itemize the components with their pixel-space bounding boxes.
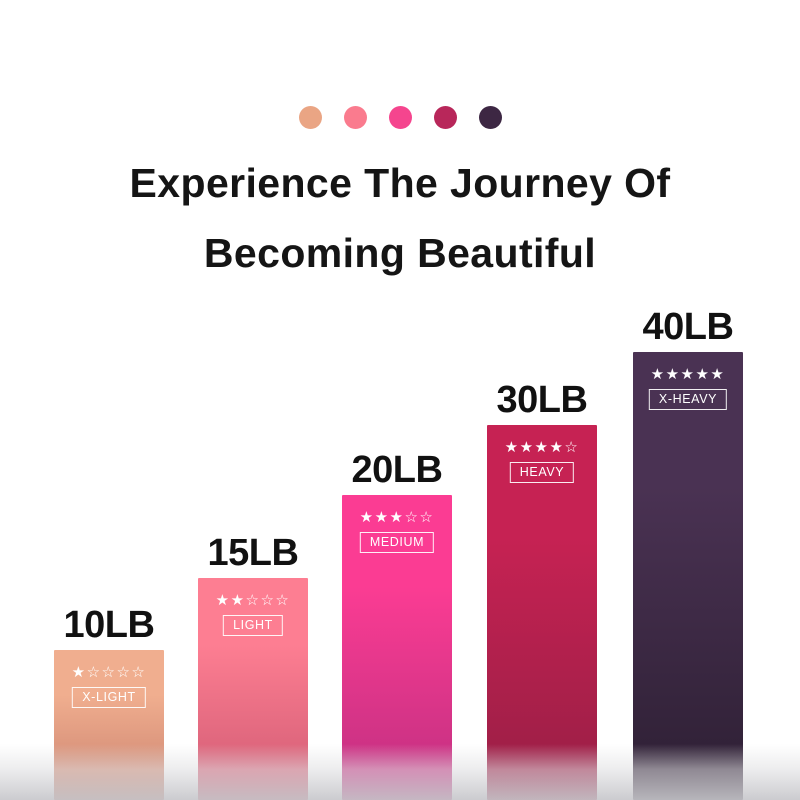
tier-label-x-heavy: X-HEAVY	[649, 389, 727, 410]
page-title-line-1: Experience The Journey Of	[0, 148, 800, 218]
bar-medium[interactable]: ★★★☆☆MEDIUM	[342, 495, 452, 800]
bar-group-heavy[interactable]: 30LB★★★★☆HEAVY	[487, 425, 597, 800]
dot-heavy	[434, 106, 457, 129]
bar-group-medium[interactable]: 20LB★★★☆☆MEDIUM	[342, 495, 452, 800]
page-title: Experience The Journey Of Becoming Beaut…	[0, 148, 800, 288]
resistance-bar-chart: 10LB★☆☆☆☆X-LIGHT15LB★★☆☆☆LIGHT20LB★★★☆☆M…	[0, 280, 800, 800]
bar-light[interactable]: ★★☆☆☆LIGHT	[198, 578, 308, 800]
bar-group-x-light[interactable]: 10LB★☆☆☆☆X-LIGHT	[54, 650, 164, 800]
palette-dot-row	[0, 106, 800, 129]
dot-medium	[389, 106, 412, 129]
bar-value-label-x-light: 10LB	[64, 606, 155, 644]
bar-value-label-medium: 20LB	[352, 451, 443, 489]
tier-label-heavy: HEAVY	[510, 462, 574, 483]
star-rating-icon: ★★★☆☆	[351, 509, 443, 527]
star-rating-icon: ★★★★☆	[496, 439, 588, 457]
star-rating-icon: ★★★★★	[642, 366, 734, 384]
bar-value-label-heavy: 30LB	[497, 381, 588, 419]
bar-badge-medium: ★★★☆☆MEDIUM	[351, 509, 443, 553]
bar-badge-x-light: ★☆☆☆☆X-LIGHT	[63, 664, 155, 708]
star-rating-icon: ★☆☆☆☆	[63, 664, 155, 682]
bar-heavy[interactable]: ★★★★☆HEAVY	[487, 425, 597, 800]
page-title-line-2: Becoming Beautiful	[0, 218, 800, 288]
bar-badge-light: ★★☆☆☆LIGHT	[207, 592, 299, 636]
bar-badge-heavy: ★★★★☆HEAVY	[496, 439, 588, 483]
star-rating-icon: ★★☆☆☆	[207, 592, 299, 610]
tier-label-x-light: X-LIGHT	[72, 687, 146, 708]
bar-x-light[interactable]: ★☆☆☆☆X-LIGHT	[54, 650, 164, 800]
dot-x-light	[299, 106, 322, 129]
dot-light	[344, 106, 367, 129]
bar-value-label-light: 15LB	[208, 534, 299, 572]
promo-banner: Experience The Journey Of Becoming Beaut…	[0, 0, 800, 800]
bar-group-light[interactable]: 15LB★★☆☆☆LIGHT	[198, 578, 308, 800]
tier-label-medium: MEDIUM	[360, 532, 434, 553]
tier-label-light: LIGHT	[223, 615, 283, 636]
bar-group-x-heavy[interactable]: 40LB★★★★★X-HEAVY	[633, 352, 743, 800]
bar-x-heavy[interactable]: ★★★★★X-HEAVY	[633, 352, 743, 800]
bar-value-label-x-heavy: 40LB	[643, 308, 734, 346]
bar-badge-x-heavy: ★★★★★X-HEAVY	[642, 366, 734, 410]
dot-x-heavy	[479, 106, 502, 129]
